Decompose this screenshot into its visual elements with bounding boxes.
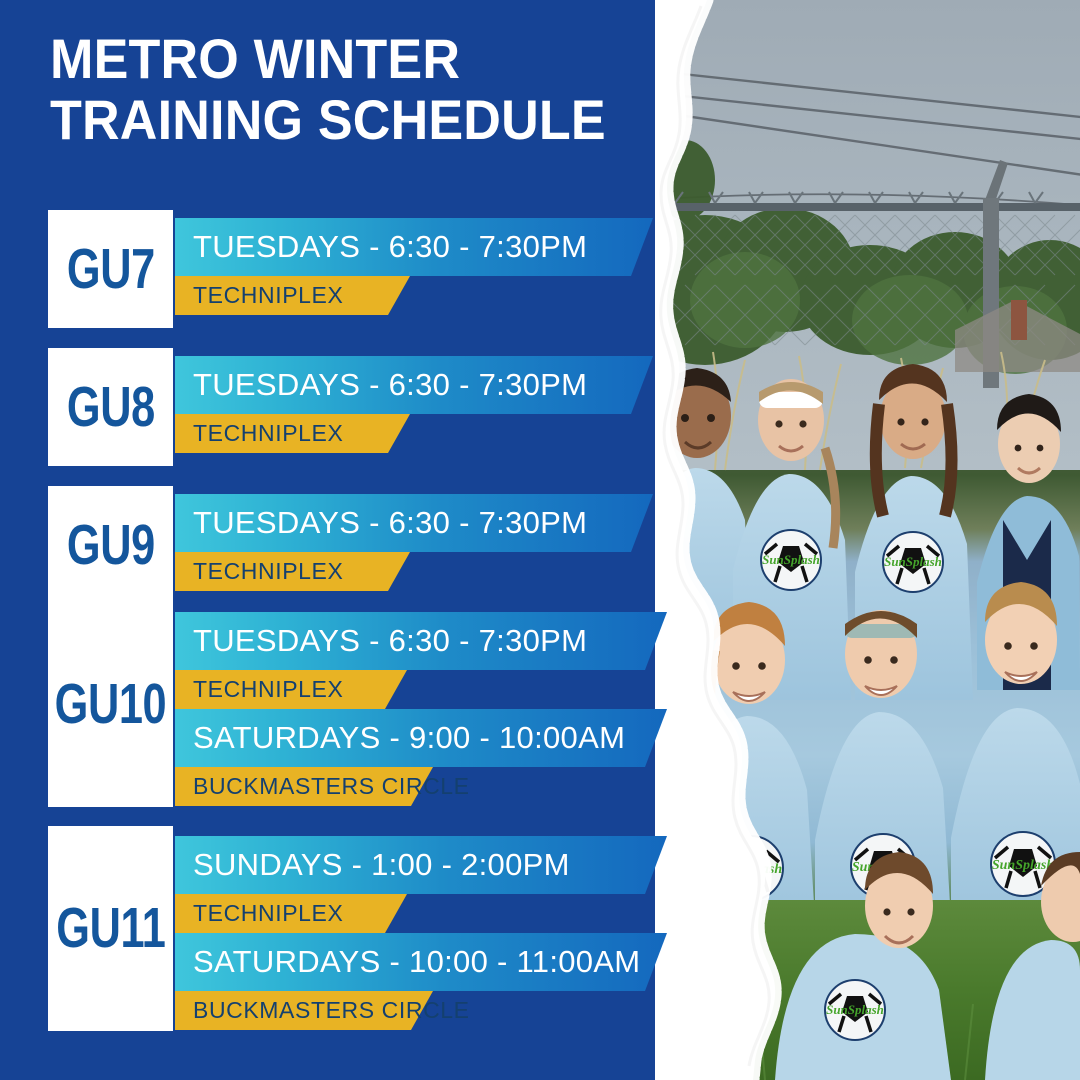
age-group-label: GU11 — [56, 900, 165, 957]
session-time-bar: TUESDAYS - 6:30 - 7:30PM — [175, 494, 653, 552]
schedule-row: GU10 TUESDAYS - 6:30 - 7:30PM TECHNIPLEX — [48, 602, 688, 807]
age-group-label: GU9 — [67, 517, 155, 574]
session-time-label: SATURDAYS - 10:00 - 11:00AM — [175, 944, 640, 980]
session-location-label: BUCKMASTERS CIRCLE — [175, 997, 470, 1024]
session-time-label: TUESDAYS - 6:30 - 7:30PM — [175, 367, 587, 403]
age-group-label: GU10 — [55, 676, 167, 733]
session-entries: SUNDAYS - 1:00 - 2:00PM TECHNIPLEX SATUR… — [175, 836, 667, 1030]
session-entry: TUESDAYS - 6:30 - 7:30PM TECHNIPLEX — [175, 612, 667, 709]
session-location-label: TECHNIPLEX — [175, 676, 343, 703]
svg-text:SunSplash: SunSplash — [884, 554, 942, 569]
session-time-bar: TUESDAYS - 6:30 - 7:30PM — [175, 612, 667, 670]
session-location-label: BUCKMASTERS CIRCLE — [175, 773, 470, 800]
session-location-label: TECHNIPLEX — [175, 282, 343, 309]
session-time-bar: SATURDAYS - 9:00 - 10:00AM — [175, 709, 667, 767]
session-location-bar: BUCKMASTERS CIRCLE — [175, 991, 433, 1030]
svg-text:SunSplash: SunSplash — [992, 858, 1054, 873]
session-time-label: TUESDAYS - 6:30 - 7:30PM — [175, 505, 587, 541]
age-group-badge: GU7 — [48, 210, 173, 328]
session-location-bar: TECHNIPLEX — [175, 276, 410, 315]
schedule-list: GU7 TUESDAYS - 6:30 - 7:30PM TECHNIPLEX — [0, 0, 680, 1080]
session-entry: TUESDAYS - 6:30 - 7:30PM TECHNIPLEX — [175, 218, 653, 315]
age-group-label: GU7 — [67, 241, 155, 298]
session-location-bar: BUCKMASTERS CIRCLE — [175, 767, 433, 806]
session-location-label: TECHNIPLEX — [175, 900, 343, 927]
schedule-row: GU8 TUESDAYS - 6:30 - 7:30PM TECHNIPLEX — [48, 348, 668, 466]
session-entry: SATURDAYS - 10:00 - 11:00AM BUCKMASTERS … — [175, 933, 667, 1030]
session-entry: SATURDAYS - 9:00 - 10:00AM BUCKMASTERS C… — [175, 709, 667, 806]
age-group-badge: GU11 — [48, 826, 173, 1031]
session-entries: TUESDAYS - 6:30 - 7:30PM TECHNIPLEX — [175, 218, 653, 315]
age-group-badge: GU9 — [48, 486, 173, 604]
session-time-label: SATURDAYS - 9:00 - 10:00AM — [175, 720, 625, 756]
session-entries: TUESDAYS - 6:30 - 7:30PM TECHNIPLEX — [175, 494, 653, 591]
session-location-label: TECHNIPLEX — [175, 420, 343, 447]
session-location-bar: TECHNIPLEX — [175, 552, 410, 591]
session-time-bar: SUNDAYS - 1:00 - 2:00PM — [175, 836, 667, 894]
session-location-bar: TECHNIPLEX — [175, 894, 407, 933]
age-group-badge: GU8 — [48, 348, 173, 466]
session-time-label: TUESDAYS - 6:30 - 7:30PM — [175, 229, 587, 265]
session-entries: TUESDAYS - 6:30 - 7:30PM TECHNIPLEX SATU… — [175, 612, 667, 806]
session-entry: TUESDAYS - 6:30 - 7:30PM TECHNIPLEX — [175, 356, 653, 453]
age-group-badge: GU10 — [48, 602, 173, 807]
session-time-label: SUNDAYS - 1:00 - 2:00PM — [175, 847, 570, 883]
session-time-bar: SATURDAYS - 10:00 - 11:00AM — [175, 933, 667, 991]
svg-text:SunSplash: SunSplash — [826, 1002, 884, 1017]
schedule-row: GU7 TUESDAYS - 6:30 - 7:30PM TECHNIPLEX — [48, 210, 668, 328]
session-time-bar: TUESDAYS - 6:30 - 7:30PM — [175, 356, 653, 414]
session-location-bar: TECHNIPLEX — [175, 414, 410, 453]
schedule-row: GU11 SUNDAYS - 1:00 - 2:00PM TECHNIPLEX — [48, 826, 688, 1031]
session-entry: TUESDAYS - 6:30 - 7:30PM TECHNIPLEX — [175, 494, 653, 591]
session-location-bar: TECHNIPLEX — [175, 670, 407, 709]
schedule-row: GU9 TUESDAYS - 6:30 - 7:30PM TECHNIPLEX — [48, 486, 668, 604]
session-entries: TUESDAYS - 6:30 - 7:30PM TECHNIPLEX — [175, 356, 653, 453]
session-time-bar: TUESDAYS - 6:30 - 7:30PM — [175, 218, 653, 276]
age-group-label: GU8 — [67, 379, 155, 436]
team-photo-panel: SunSplash SunSplash — [655, 0, 1080, 1080]
poster-canvas: SunSplash SunSplash — [0, 0, 1080, 1080]
session-entry: SUNDAYS - 1:00 - 2:00PM TECHNIPLEX — [175, 836, 667, 933]
session-time-label: TUESDAYS - 6:30 - 7:30PM — [175, 623, 587, 659]
session-location-label: TECHNIPLEX — [175, 558, 343, 585]
